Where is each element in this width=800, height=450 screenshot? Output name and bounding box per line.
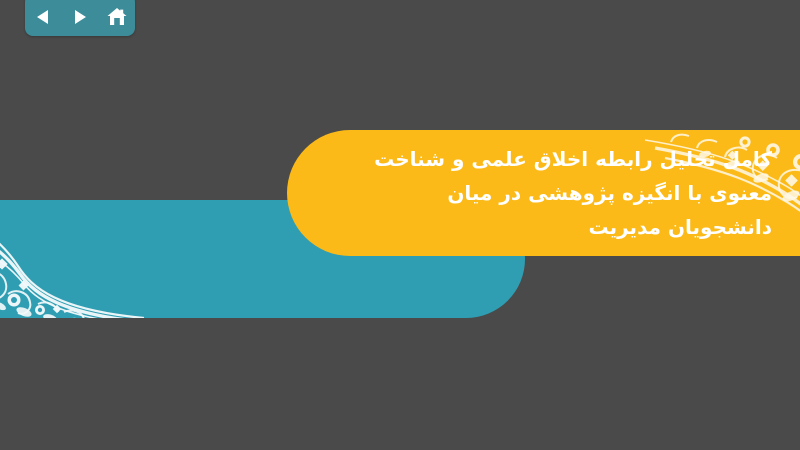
back-arrow-icon [33, 7, 53, 27]
forward-arrow-icon [70, 7, 90, 27]
home-button[interactable] [104, 5, 130, 29]
presentation-slide: کامل تحلیل رابطه اخلاق علمی و شناخت معنو… [0, 0, 800, 450]
back-button[interactable] [30, 5, 56, 29]
home-icon [106, 6, 128, 28]
orange-title-band [287, 130, 800, 256]
arabesque-corner-ornament-mirrored [0, 200, 144, 318]
arabesque-corner-ornament [641, 130, 800, 256]
forward-button[interactable] [67, 5, 93, 29]
navigation-toolbar [25, 0, 135, 36]
